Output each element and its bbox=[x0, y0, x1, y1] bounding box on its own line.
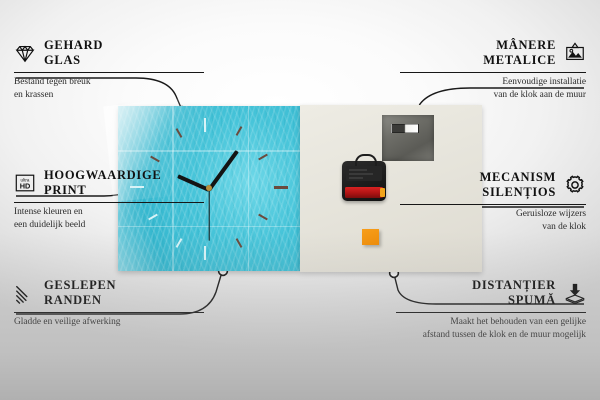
feature-subtitle: Eenvoudige installatie van de klok aan d… bbox=[400, 76, 586, 101]
feature-geslepen-randen: GESLEPEN RANDEN Gladde en veilige afwerk… bbox=[14, 278, 204, 329]
mechanism-panel bbox=[346, 166, 382, 181]
feature-gehard-glas: GEHARD GLAS Bestand tegen breuk en krass… bbox=[14, 38, 204, 101]
feature-subtitle: Intense kleuren en een duidelijk beeld bbox=[14, 206, 204, 231]
feature-divider bbox=[400, 72, 586, 74]
clock-tick bbox=[274, 186, 288, 189]
feature-subtitle: Geruisloze wijzers van de klok bbox=[400, 208, 586, 233]
feature-header: MÂNERE METALICE bbox=[400, 38, 586, 69]
feature-subtitle: Gladde en veilige afwerking bbox=[14, 316, 204, 328]
clock-tick bbox=[258, 154, 268, 161]
feature-manere-metalice: MÂNERE METALICE Eenvoudige installatie v… bbox=[400, 38, 586, 101]
glass-streak bbox=[248, 106, 249, 271]
diamond-icon bbox=[14, 42, 36, 64]
feature-divider bbox=[400, 204, 586, 206]
feature-header: ultra HD HOOGWAARDIGE PRINT bbox=[14, 168, 204, 199]
feature-subtitle: Maakt het behouden van een gelijke afsta… bbox=[396, 316, 586, 341]
feature-subtitle: Bestand tegen breuk en krassen bbox=[14, 76, 204, 101]
feature-title: MÂNERE METALICE bbox=[483, 38, 556, 69]
clock-tick bbox=[204, 246, 206, 260]
clock-tick bbox=[236, 238, 243, 248]
clock-center-pin bbox=[206, 185, 212, 191]
feature-hoogwaardige-print: ultra HD HOOGWAARDIGE PRINT Intense kleu… bbox=[14, 168, 204, 231]
svg-text:HD: HD bbox=[20, 182, 31, 191]
feature-title: MECANISM SILENȚIOS bbox=[480, 170, 556, 201]
clock-tick bbox=[204, 118, 206, 132]
feature-divider bbox=[14, 312, 204, 314]
gear-icon bbox=[564, 174, 586, 196]
beveled-edges-icon bbox=[14, 282, 36, 304]
feature-header: DISTANȚIER SPUMĂ bbox=[396, 278, 586, 309]
feature-title: GEHARD GLAS bbox=[44, 38, 103, 69]
feature-header: MECANISM SILENȚIOS bbox=[400, 170, 586, 201]
feature-divider bbox=[396, 312, 586, 314]
quartz-mechanism bbox=[342, 161, 386, 201]
clock-tick bbox=[258, 214, 268, 221]
ultra-hd-icon: ultra HD bbox=[14, 172, 36, 194]
spacer-press-icon bbox=[564, 282, 586, 304]
metal-hanger bbox=[382, 115, 434, 161]
feature-header: GESLEPEN RANDEN bbox=[14, 278, 204, 309]
feature-divider bbox=[14, 72, 204, 74]
mechanism-hang-loop bbox=[355, 154, 377, 166]
clock-tick bbox=[176, 238, 183, 248]
feature-divider bbox=[14, 202, 204, 204]
feature-distantier-spuma: DISTANȚIER SPUMĂ Maakt het behouden van … bbox=[396, 278, 586, 341]
foam-spacer bbox=[362, 229, 379, 245]
clock-second-hand bbox=[208, 189, 209, 241]
hanger-keyhole-slot bbox=[391, 124, 419, 133]
product-infographic: GEHARD GLAS Bestand tegen breuk en krass… bbox=[0, 0, 600, 400]
aa-battery bbox=[345, 187, 383, 198]
feature-header: GEHARD GLAS bbox=[14, 38, 204, 69]
feature-title: HOOGWAARDIGE PRINT bbox=[44, 168, 161, 199]
clock-tick bbox=[236, 126, 243, 136]
picture-hanger-icon bbox=[564, 42, 586, 64]
feature-mecanism-silentios: MECANISM SILENȚIOS Geruisloze wijzers va… bbox=[400, 170, 586, 233]
feature-title: GESLEPEN RANDEN bbox=[44, 278, 116, 309]
glass-streak bbox=[118, 150, 300, 152]
feature-title: DISTANȚIER SPUMĂ bbox=[472, 278, 556, 309]
